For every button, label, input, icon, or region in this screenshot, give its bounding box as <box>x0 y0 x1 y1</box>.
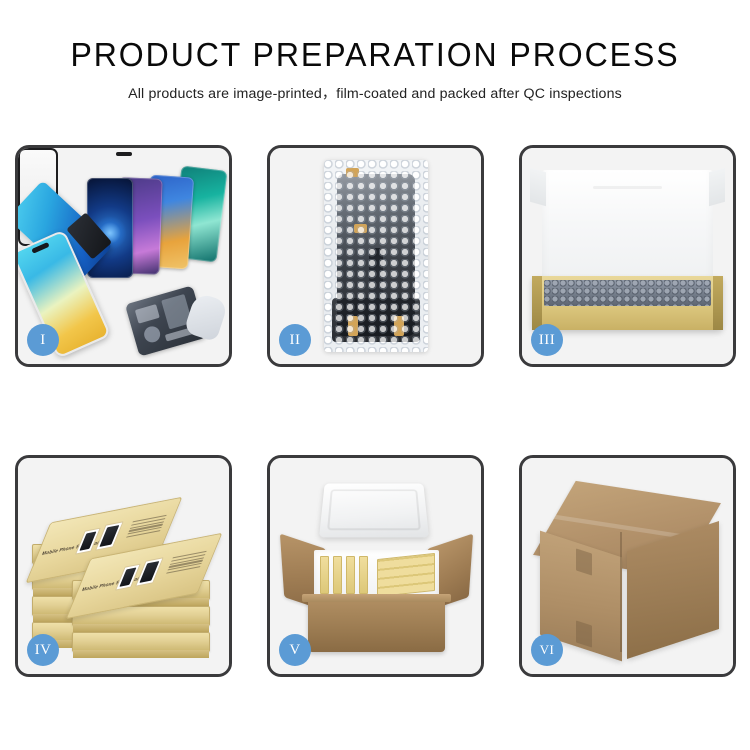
step-badge-3: III <box>531 324 563 356</box>
process-step-5: V <box>267 455 484 677</box>
carton-tab-top <box>576 548 592 575</box>
process-step-4: Mobile Phone Spare Parts Mobile Phone Sp… <box>15 455 232 677</box>
step-badge-4: IV <box>27 634 59 666</box>
process-step-grid: I II <box>15 145 745 677</box>
box-spec-lines-front <box>166 551 207 574</box>
white-box-lid <box>542 170 713 292</box>
carton-tab-bottom <box>576 620 592 647</box>
process-step-3: III <box>519 145 736 367</box>
bubble-wrapped-contents <box>544 280 711 306</box>
step-badge-5: V <box>279 634 311 666</box>
carton-front-panel <box>308 600 445 652</box>
process-step-2: II <box>267 145 484 367</box>
step-badge-6: VI <box>531 634 563 666</box>
box-window-4 <box>135 557 164 587</box>
kraft-box-tray <box>532 276 723 330</box>
page-subtitle: All products are image-printed，film-coat… <box>0 83 750 103</box>
process-step-6: VI <box>519 455 736 677</box>
header: PRODUCT PREPARATION PROCESS All products… <box>0 0 750 103</box>
yellow-boxes-row <box>377 553 435 597</box>
step-badge-1: I <box>27 324 59 356</box>
carton-vertical-edge <box>620 532 622 652</box>
process-step-1: I <box>15 145 232 367</box>
box-window-2 <box>95 521 124 551</box>
bubble-wrapped-screen-illustration <box>324 160 428 352</box>
foam-lid <box>319 483 429 537</box>
step-badge-2: II <box>279 324 311 356</box>
stacked-boxes-illustration: Mobile Phone Spare Parts Mobile Phone Sp… <box>32 488 222 658</box>
page-title: PRODUCT PREPARATION PROCESS <box>11 38 739 73</box>
box-spec-lines-rear <box>126 515 167 538</box>
product-preparation-infographic: PRODUCT PREPARATION PROCESS All products… <box>0 0 750 750</box>
